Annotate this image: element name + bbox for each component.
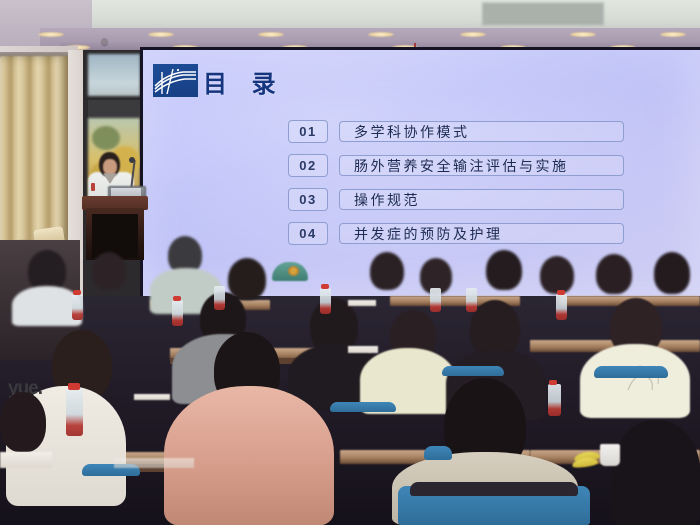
audience-head xyxy=(654,252,690,294)
bottle-cap-icon xyxy=(557,290,565,295)
audience-head xyxy=(0,392,46,452)
downlight-icon xyxy=(38,32,64,37)
presenter-face xyxy=(103,159,117,175)
ceiling-sensor-icon xyxy=(101,38,108,45)
water-bottle xyxy=(214,286,225,310)
water-bottle xyxy=(172,300,183,326)
downlight-icon xyxy=(258,32,284,37)
toc-item-01: 01 多学科协作模式 xyxy=(288,120,624,143)
bottle-cap-icon xyxy=(73,290,81,295)
audience-head xyxy=(540,256,574,294)
organization-logo-icon xyxy=(153,64,198,97)
notebook xyxy=(134,394,170,400)
water-bottle xyxy=(320,288,331,314)
toc-item-03: 03 操作规范 xyxy=(288,188,624,211)
paper-sheet xyxy=(348,300,376,306)
downlight-icon xyxy=(660,32,686,37)
toc-label: 并发症的预防及护理 xyxy=(339,223,624,244)
name-badge xyxy=(91,183,95,191)
downlight-icon xyxy=(460,32,486,37)
audience-head xyxy=(92,252,126,290)
toc-item-04: 04 并发症的预防及护理 xyxy=(288,222,624,245)
toc-number: 04 xyxy=(288,222,328,245)
bottle-cap-icon xyxy=(173,296,181,301)
logo-lines-icon xyxy=(153,64,198,97)
paper-sheet xyxy=(0,452,52,468)
downlight-icon xyxy=(368,32,394,37)
window-upper-pane xyxy=(88,54,140,96)
paper-sheet xyxy=(114,458,194,468)
bottle-cap-icon xyxy=(321,284,329,289)
water-bottle xyxy=(430,288,441,312)
audience-head xyxy=(596,254,632,294)
toc-label: 操作规范 xyxy=(339,189,624,210)
audience-person-pink-jacket xyxy=(164,386,334,525)
downlight-icon xyxy=(570,32,596,37)
water-bottle xyxy=(466,288,477,312)
toc-number: 02 xyxy=(288,154,328,177)
toc-number: 03 xyxy=(288,188,328,211)
paper-cup xyxy=(600,444,620,466)
bottle-cap-icon xyxy=(549,380,557,385)
podium-front-panel xyxy=(92,214,138,258)
audience-head xyxy=(370,252,404,290)
paper-sheet xyxy=(348,346,378,353)
chair xyxy=(594,366,668,378)
toc-label: 肠外营养安全输注评估与实施 xyxy=(339,155,624,176)
water-bottle xyxy=(548,384,561,416)
water-bottle xyxy=(556,294,567,320)
window-mullion xyxy=(88,100,140,118)
chair-back xyxy=(410,482,578,496)
microphone-icon xyxy=(129,157,135,163)
toc-number: 01 xyxy=(288,120,328,143)
water-bottle xyxy=(66,388,83,436)
chair xyxy=(424,446,452,460)
chair xyxy=(330,402,396,412)
bottle-cap-icon xyxy=(68,383,80,390)
water-bottle xyxy=(72,294,83,320)
slide-title: 目 录 xyxy=(203,64,285,99)
audience-head xyxy=(228,258,266,300)
chair xyxy=(442,366,504,376)
downlight-icon xyxy=(148,32,174,37)
cap-patch-icon xyxy=(288,266,299,276)
toc-item-02: 02 肠外营养安全输注评估与实施 xyxy=(288,154,624,177)
toc-label: 多学科协作模式 xyxy=(339,121,624,142)
lecture-hall-photo: 目 录 01 多学科协作模式 02 肠外营养安全输注评估与实施 03 操作规范 … xyxy=(0,0,700,525)
foliage-icon xyxy=(92,126,120,150)
audience-head xyxy=(486,250,522,290)
air-conditioning-vent xyxy=(482,2,604,26)
audience-person xyxy=(612,420,700,525)
